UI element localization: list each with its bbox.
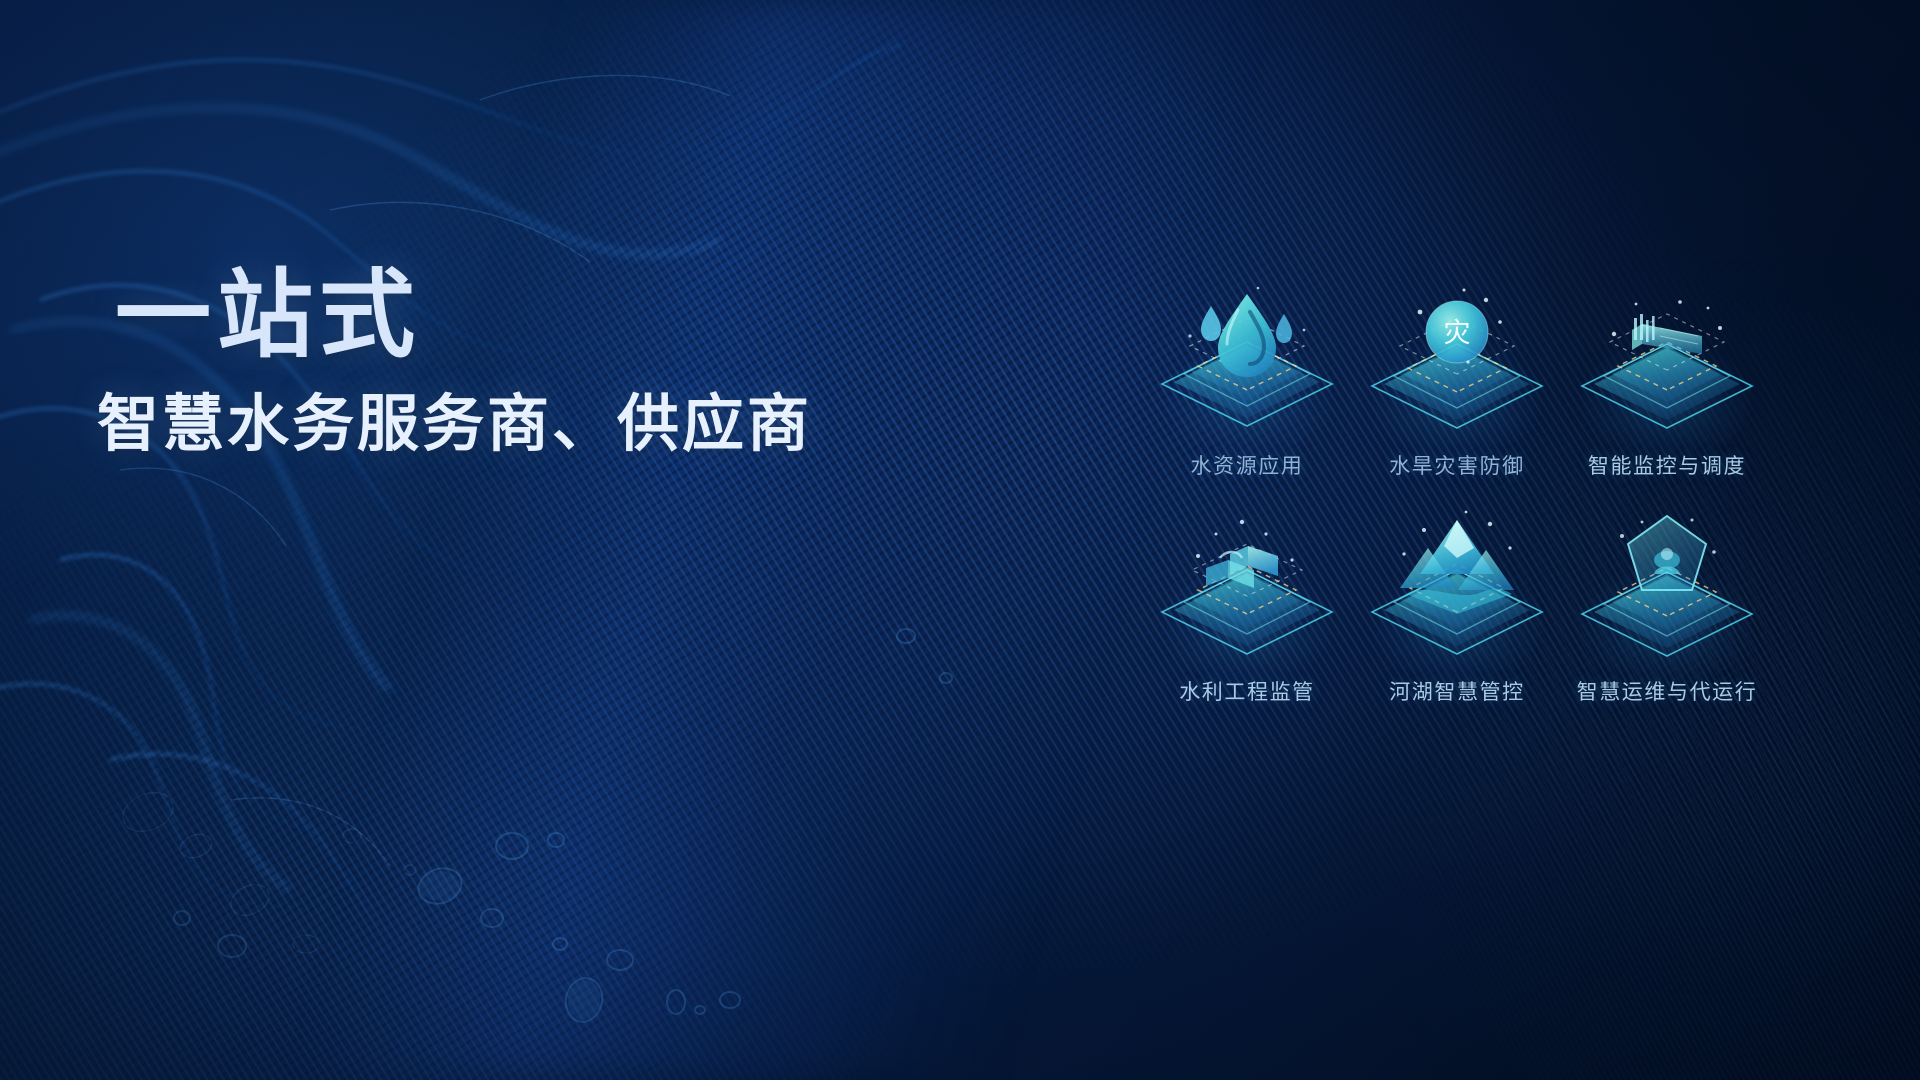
grid-item-hydraulic-works-supervision[interactable]: 水利工程监管: [1142, 504, 1352, 730]
grid-item-label: 智慧运维与代运行: [1577, 676, 1758, 706]
slide-canvas: 一站式 智慧水务服务商、供应商: [0, 0, 1920, 1080]
page-subtitle: 智慧水务服务商、供应商: [97, 394, 812, 456]
grid-item-label: 水利工程监管: [1179, 676, 1315, 706]
headline-block: 一站式 智慧水务服务商、供应商: [97, 268, 812, 456]
grid-item-label: 河湖智慧管控: [1389, 676, 1525, 706]
shield-ops-platform-icon: [1574, 504, 1760, 670]
disaster-badge-text: 灾: [1444, 318, 1471, 348]
page-title: 一站式: [115, 268, 812, 364]
river-lake-terrain-platform-icon: [1364, 504, 1550, 670]
grid-item-smart-ops-hosting[interactable]: 智慧运维与代运行: [1562, 504, 1772, 730]
grid-item-smart-monitor-dispatch[interactable]: 智能监控与调度: [1562, 278, 1772, 504]
grid-item-label: 水旱灾害防御: [1389, 450, 1525, 480]
capability-grid: 水资源应用: [1142, 278, 1772, 730]
grid-item-label: 智能监控与调度: [1588, 450, 1746, 480]
hydro-works-platform-icon: [1154, 504, 1340, 670]
grid-item-water-resource[interactable]: 水资源应用: [1142, 278, 1352, 504]
water-drop-platform-icon: [1154, 278, 1340, 444]
grid-item-label: 水资源应用: [1191, 450, 1304, 480]
disaster-sphere-platform-icon: 灾: [1364, 278, 1550, 444]
dam-monitor-platform-icon: [1574, 278, 1760, 444]
grid-item-flood-drought-defense[interactable]: 灾 水旱灾害防御: [1352, 278, 1562, 504]
grid-item-river-lake-control[interactable]: 河湖智慧管控: [1352, 504, 1562, 730]
